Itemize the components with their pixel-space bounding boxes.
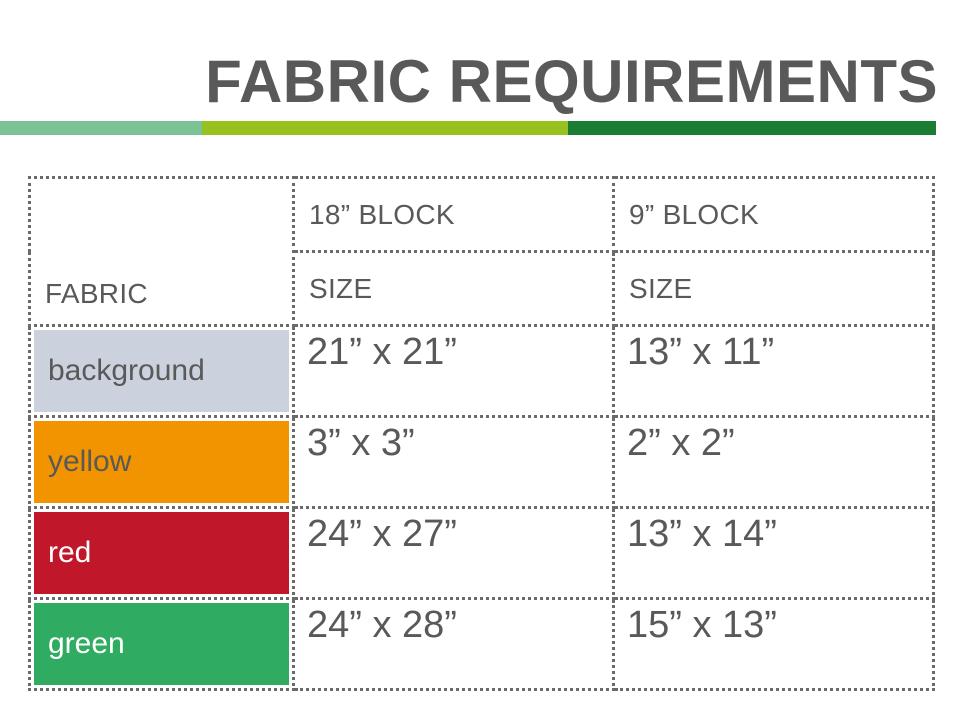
header-cell-18in-block: 18” BLOCK — [294, 178, 614, 252]
accent-segment-forest — [568, 121, 936, 135]
table-header-row-1: FABRIC 18” BLOCK 9” BLOCK — [30, 178, 934, 252]
page-title: FABRIC REQUIREMENTS — [28, 48, 938, 116]
size-cell-9in-background: 13” x 11” — [614, 326, 934, 417]
fabric-name-red: red — [48, 536, 91, 570]
size-cell-9in-red: 13” x 14” — [614, 508, 934, 599]
fabric-swatch-cell-green: green — [30, 599, 294, 690]
accent-segment-sage — [0, 121, 202, 135]
fabric-swatch-cell-yellow: yellow — [30, 417, 294, 508]
accent-bar — [0, 121, 936, 135]
color-swatch-yellow: yellow — [34, 421, 289, 503]
color-swatch-green: green — [34, 603, 289, 685]
table-row: background 21” x 21” 13” x 11” — [30, 326, 934, 417]
size-cell-18in-green: 24” x 28” — [294, 599, 614, 690]
header-label-fabric: FABRIC — [45, 278, 292, 324]
fabric-name-background: background — [48, 354, 205, 388]
header-cell-size-9in: SIZE — [614, 252, 934, 326]
accent-segment-lime — [202, 121, 568, 135]
color-swatch-red: red — [34, 512, 289, 594]
fabric-name-yellow: yellow — [48, 445, 131, 479]
fabric-swatch-cell-background: background — [30, 326, 294, 417]
size-cell-18in-red: 24” x 27” — [294, 508, 614, 599]
header-cell-9in-block: 9” BLOCK — [614, 178, 934, 252]
header-cell-fabric: FABRIC — [30, 178, 294, 326]
color-swatch-background: background — [34, 330, 289, 412]
size-cell-9in-yellow: 2” x 2” — [614, 417, 934, 508]
size-cell-18in-yellow: 3” x 3” — [294, 417, 614, 508]
fabric-swatch-cell-red: red — [30, 508, 294, 599]
header-cell-size-18in: SIZE — [294, 252, 614, 326]
size-cell-9in-green: 15” x 13” — [614, 599, 934, 690]
fabric-requirements-table: FABRIC 18” BLOCK 9” BLOCK SIZE SIZE back… — [28, 176, 932, 672]
table-row: red 24” x 27” 13” x 14” — [30, 508, 934, 599]
table-row: yellow 3” x 3” 2” x 2” — [30, 417, 934, 508]
table-body: FABRIC 18” BLOCK 9” BLOCK SIZE SIZE back… — [30, 178, 934, 690]
fabric-name-green: green — [48, 627, 125, 661]
size-cell-18in-background: 21” x 21” — [294, 326, 614, 417]
table-row: green 24” x 28” 15” x 13” — [30, 599, 934, 690]
